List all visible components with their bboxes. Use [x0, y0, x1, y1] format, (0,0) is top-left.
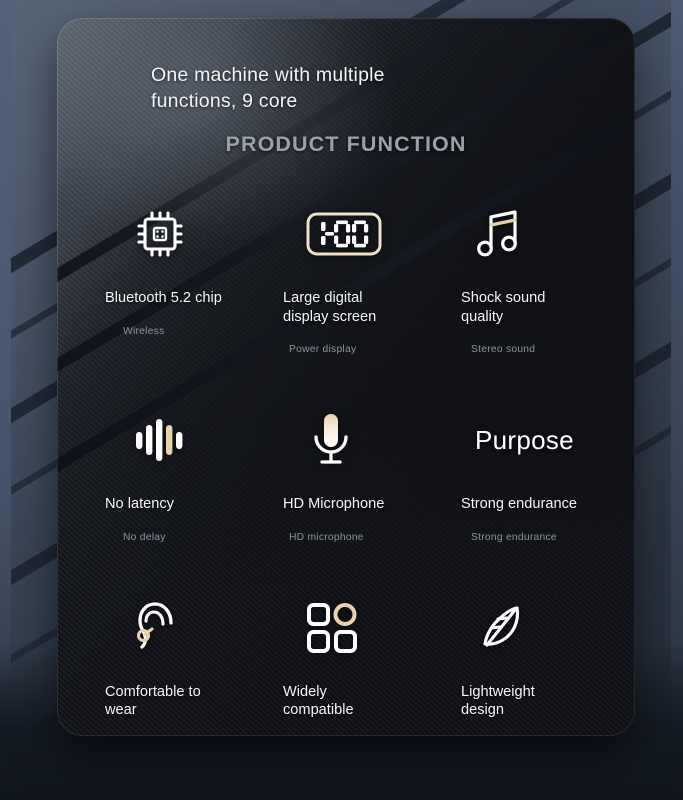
feature-item-no-latency: No latency No delay — [91, 407, 261, 545]
page-title: PRODUCT FUNCTION — [91, 132, 601, 157]
feature-title: Large digital display screen — [283, 289, 388, 326]
feature-item-hd-microphone: HD Microphone HD microphone — [261, 407, 431, 545]
feature-item-digital-display: Large digital display screen Power displ… — [261, 201, 431, 357]
feature-subtitle: HD microphone — [283, 531, 431, 545]
feature-item-widely-compatible: Widely compatible Wide compatibility — [261, 595, 431, 737]
music-note-icon — [461, 201, 601, 267]
feature-title: Comfortable to wear — [105, 683, 225, 720]
ear-earbud-icon — [105, 595, 261, 661]
feature-subtitle: Wireless — [105, 325, 261, 339]
feature-subtitle: Strong endurance — [461, 531, 601, 545]
feature-grid: Bluetooth 5.2 chip Wireless — [91, 201, 601, 736]
card-content: One machine with multiple functions, 9 c… — [57, 18, 635, 736]
feature-title: HD Microphone — [283, 495, 388, 514]
feature-title: Shock sound quality — [461, 289, 581, 326]
feature-item-sound-quality: Shock sound quality Stereo sound — [431, 201, 601, 357]
digital-display-icon — [283, 201, 431, 267]
page-headline: One machine with multiple functions, 9 c… — [151, 62, 451, 114]
microphone-icon — [283, 407, 431, 473]
feature-item-lightweight-design: Lightweight design Lightweight body — [431, 595, 601, 737]
feature-title: Lightweight design — [461, 683, 581, 720]
feature-subtitle: No delay — [105, 531, 261, 545]
grid-squares-icon — [283, 595, 431, 661]
waveform-icon — [105, 407, 261, 473]
purpose-word: Purpose — [475, 407, 574, 473]
cpu-chip-icon — [105, 201, 261, 267]
product-function-card: One machine with multiple functions, 9 c… — [57, 18, 635, 736]
feature-subtitle: Power display — [283, 343, 431, 357]
feature-title: Strong endurance — [461, 495, 581, 514]
feature-title: Bluetooth 5.2 chip — [105, 289, 225, 308]
feature-subtitle: Stereo sound — [461, 343, 601, 357]
feature-item-strong-endurance: Purpose Strong endurance Strong enduranc… — [431, 407, 601, 545]
leaf-icon — [461, 595, 601, 661]
feature-item-comfortable-to-wear: Comfortable to wear Comfortable to wear — [91, 595, 261, 737]
feature-item-bluetooth-chip: Bluetooth 5.2 chip Wireless — [91, 201, 261, 357]
feature-title: Widely compatible — [283, 683, 388, 720]
purpose-label: Purpose — [461, 407, 601, 473]
feature-title: No latency — [105, 495, 225, 514]
